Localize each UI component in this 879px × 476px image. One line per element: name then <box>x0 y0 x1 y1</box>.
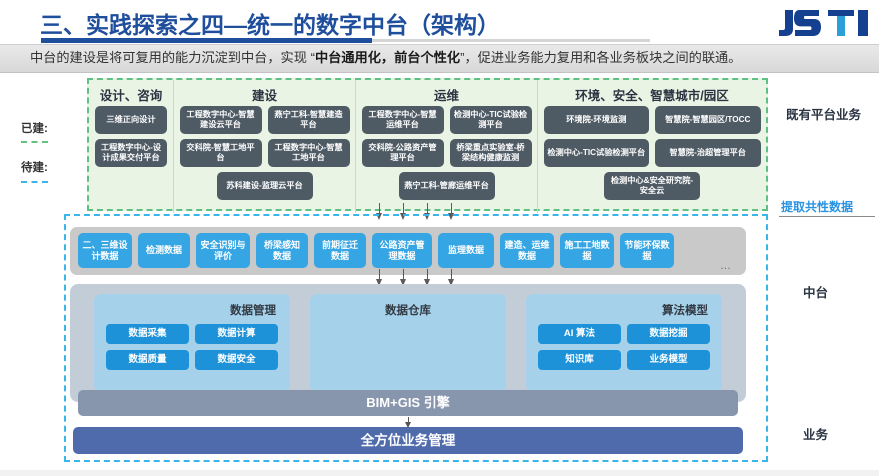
platform-chip[interactable]: 工程数字中心-智慧建设云平台 <box>180 106 262 134</box>
platform-chip[interactable]: 燕宁工科-管廊运维平台 <box>399 172 495 200</box>
platform-chip-row: 检测中心&安全研究院-安全云 <box>538 172 766 200</box>
label-extract-common-data: 提取共性数据 <box>781 198 853 215</box>
platform-chip[interactable]: 燕宁工科-智慧建造平台 <box>268 106 350 134</box>
subpanel-title: 算法模型 <box>662 302 708 318</box>
platform-chip[interactable]: 检测中心&安全研究院-安全云 <box>604 172 700 200</box>
subpanel-button[interactable]: 业务模型 <box>627 350 710 370</box>
middle-platform-panel: 数据管理数据采集数据计算数据质量数据安全数据仓库算法模型AI 算法数据挖掘知识库… <box>70 284 746 402</box>
label-business: 业务 <box>803 424 828 443</box>
platform-column-header: 设计、咨询 <box>89 85 173 104</box>
page-title: 三、实践探索之四—统一的数字中台（架构） <box>40 6 500 40</box>
slide-header: 三、实践探索之四—统一的数字中台（架构） <box>0 0 879 44</box>
platform-column-3: 环境、安全、智慧城市/园区环境院-环境监测智慧院-智慧园区/TOCC检测中心-T… <box>537 80 766 213</box>
subtitle-part1: 中台的建设是将可复用的能力沉淀到中台，实现 “ <box>30 50 315 65</box>
subpanel-title: 数据管理 <box>230 302 276 318</box>
label-middle-platform: 中台 <box>803 282 828 301</box>
platform-chip[interactable]: 交科院-智慧工地平台 <box>180 139 262 167</box>
platform-chip[interactable]: 智慧院-智慧园区/TOCC <box>655 106 761 134</box>
platform-chip-row: 交科院-公路资产管理平台桥梁重点实验室-桥梁结构健康监测 <box>356 139 537 167</box>
data-chip[interactable]: 节能环保数据 <box>620 233 674 268</box>
subpanel-button-group: AI 算法数据挖掘知识库业务模型 <box>538 324 710 370</box>
platform-chip-row: 燕宁工科-管廊运维平台 <box>356 172 537 200</box>
subtitle-part2: ”，促进业务能力复用和各业务板块之间的联通。 <box>460 50 741 65</box>
platform-chip-list: 三维正向设计工程数字中心-设计成果交付平台 <box>89 106 173 172</box>
title-underline-accent <box>41 38 372 43</box>
subtitle-text: 中台的建设是将可复用的能力沉淀到中台，实现 “中台通用化，前台个性化”，促进业务… <box>30 49 870 67</box>
platform-column-header: 运维 <box>356 85 537 104</box>
subpanel-button-group: 数据采集数据计算数据质量数据安全 <box>106 324 278 370</box>
slide-root: 三、实践探索之四—统一的数字中台（架构） 中台的建设是将可复用的能力沉淀到中台，… <box>0 0 879 476</box>
title-underline-gray <box>372 39 650 42</box>
platform-chip-row: 检测中心-TIC试验检测平台智慧院-治超管理平台 <box>538 139 766 167</box>
subtitle-emphasis: 中台通用化，前台个性化 <box>315 50 460 65</box>
platform-chip[interactable]: 检测中心-TIC试验检测平台 <box>544 139 650 167</box>
legend-built-line <box>21 141 48 143</box>
jsti-logo-icon <box>779 8 871 38</box>
platform-chip[interactable]: 工程数字中心-智慧运维平台 <box>362 106 444 134</box>
business-management-bar: 全方位业务管理 <box>73 427 743 454</box>
platform-column-header: 建设 <box>174 85 355 104</box>
extract-underline <box>779 216 875 217</box>
data-chip[interactable]: 施工工地数据 <box>560 233 614 268</box>
platform-chip[interactable]: 检测中心-TIC试验检测平台 <box>450 106 532 134</box>
platform-chip-row: 工程数字中心-智慧建设云平台燕宁工科-智慧建造平台 <box>174 106 355 134</box>
common-data-chip-row: 二、三维设计数据检测数据安全识别与评价桥梁感知数据前期征迁数据公路资产管理数据监… <box>78 233 674 268</box>
subpanel-button[interactable]: 数据采集 <box>106 324 189 344</box>
subpanel-button[interactable]: AI 算法 <box>538 324 621 344</box>
subpanel-button[interactable]: 数据计算 <box>195 324 278 344</box>
data-chip[interactable]: 建造、运维数据 <box>500 233 554 268</box>
data-chip[interactable]: 前期征迁数据 <box>314 233 366 268</box>
label-existing-platform-business: 既有平台业务 <box>786 104 861 123</box>
subpanel-button[interactable]: 数据质量 <box>106 350 189 370</box>
data-chip[interactable]: 公路资产管理数据 <box>372 233 432 268</box>
subpanel-button[interactable]: 知识库 <box>538 350 621 370</box>
platform-chip[interactable]: 三维正向设计 <box>95 106 167 134</box>
platform-chip[interactable]: 工程数字中心-智慧工地平台 <box>268 139 350 167</box>
subpanel-title: 数据仓库 <box>310 302 506 318</box>
slide-footer-strip <box>0 470 879 476</box>
subpanel-button[interactable]: 数据安全 <box>195 350 278 370</box>
platform-column-0: 设计、咨询三维正向设计工程数字中心-设计成果交付平台 <box>89 80 173 213</box>
platform-chip[interactable]: 环境院-环境监测 <box>544 106 650 134</box>
middle-platform-subpanel-0: 数据管理数据采集数据计算数据质量数据安全 <box>94 294 290 392</box>
platform-chip-list: 工程数字中心-智慧运维平台检测中心-TIC试验检测平台交科院-公路资产管理平台桥… <box>356 106 537 205</box>
platform-chip-row: 环境院-环境监测智慧院-智慧园区/TOCC <box>538 106 766 134</box>
bim-gis-engine-bar: BIM+GIS 引擎 <box>78 390 738 416</box>
existing-platforms-group: 设计、咨询三维正向设计工程数字中心-设计成果交付平台建设工程数字中心-智慧建设云… <box>87 78 768 211</box>
subpanel-button[interactable]: 数据挖掘 <box>627 324 710 344</box>
platform-chip-row: 工程数字中心-智慧运维平台检测中心-TIC试验检测平台 <box>356 106 537 134</box>
platform-chip-row: 交科院-智慧工地平台工程数字中心-智慧工地平台 <box>174 139 355 167</box>
data-chip[interactable]: 检测数据 <box>138 233 190 268</box>
platform-chip-row: 三维正向设计 <box>89 106 173 134</box>
platform-chip[interactable]: 工程数字中心-设计成果交付平台 <box>95 139 167 167</box>
legend-built-label: 已建: <box>21 120 48 136</box>
platform-column-header: 环境、安全、智慧城市/园区 <box>538 85 766 104</box>
platform-column-1: 建设工程数字中心-智慧建设云平台燕宁工科-智慧建造平台交科院-智慧工地平台工程数… <box>173 80 355 213</box>
jsti-logo <box>779 8 871 38</box>
middle-platform-subpanel-1: 数据仓库 <box>310 294 506 392</box>
legend-todo-line <box>21 181 48 183</box>
platform-chip[interactable]: 智慧院-治超管理平台 <box>655 139 761 167</box>
data-chip[interactable]: 监理数据 <box>438 233 494 268</box>
platform-chip-row: 工程数字中心-设计成果交付平台 <box>89 139 173 167</box>
platform-chip[interactable]: 苏科建设-监理云平台 <box>217 172 313 200</box>
platform-chip-list: 环境院-环境监测智慧院-智慧园区/TOCC检测中心-TIC试验检测平台智慧院-治… <box>538 106 766 205</box>
platform-chip-row: 苏科建设-监理云平台 <box>174 172 355 200</box>
common-data-bar: 二、三维设计数据检测数据安全识别与评价桥梁感知数据前期征迁数据公路资产管理数据监… <box>70 227 746 275</box>
platform-chip-list: 工程数字中心-智慧建设云平台燕宁工科-智慧建造平台交科院-智慧工地平台工程数字中… <box>174 106 355 205</box>
data-chips-more: … <box>720 260 732 272</box>
data-chip[interactable]: 桥梁感知数据 <box>256 233 308 268</box>
data-chip[interactable]: 二、三维设计数据 <box>78 233 132 268</box>
data-chip[interactable]: 安全识别与评价 <box>196 233 250 268</box>
middle-platform-subpanel-2: 算法模型AI 算法数据挖掘知识库业务模型 <box>526 294 722 392</box>
legend-todo-label: 待建: <box>21 159 48 175</box>
platform-chip[interactable]: 桥梁重点实验室-桥梁结构健康监测 <box>450 139 532 167</box>
platform-column-2: 运维工程数字中心-智慧运维平台检测中心-TIC试验检测平台交科院-公路资产管理平… <box>355 80 537 213</box>
platform-chip[interactable]: 交科院-公路资产管理平台 <box>362 139 444 167</box>
